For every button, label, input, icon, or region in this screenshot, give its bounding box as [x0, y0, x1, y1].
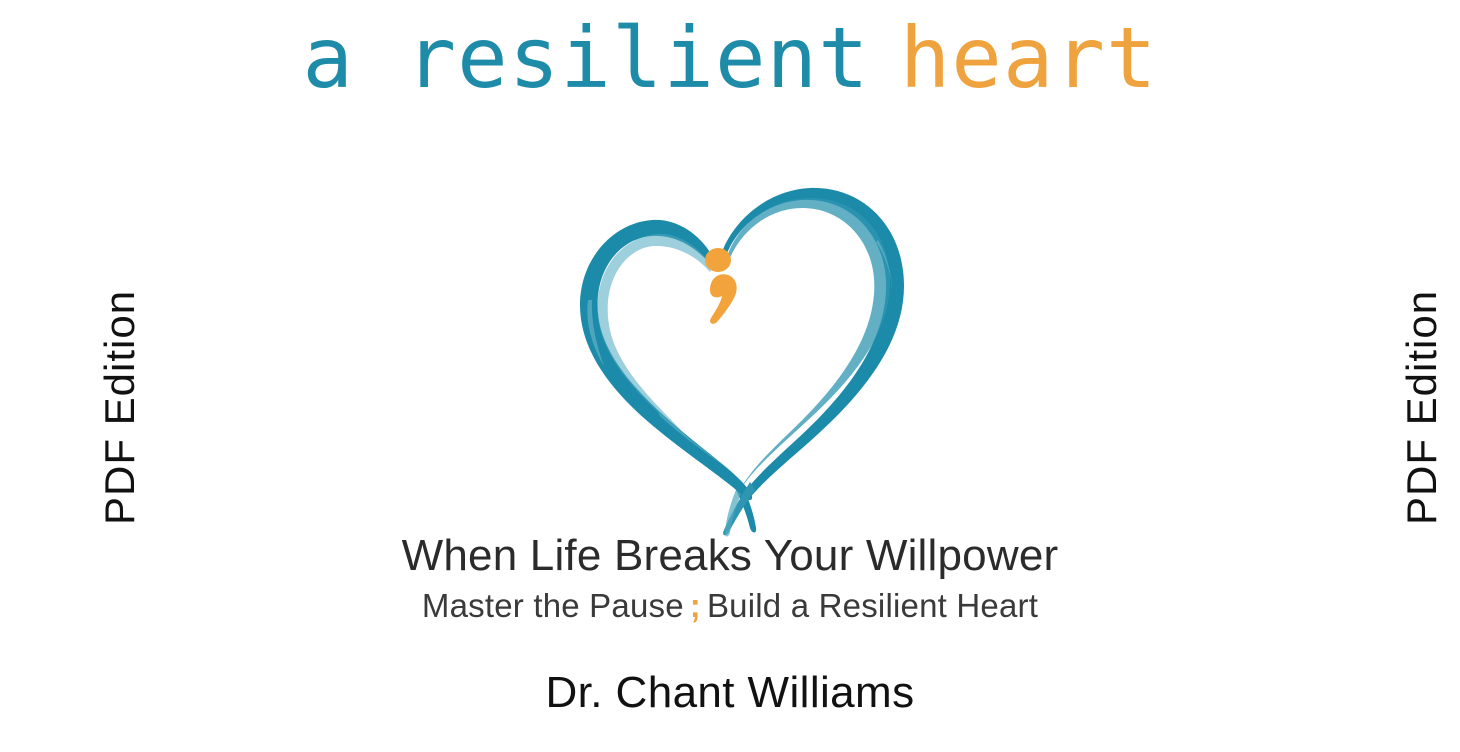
masthead-title-primary: a resilient — [302, 9, 869, 107]
edition-flag-right: PDF Edition — [1398, 290, 1446, 525]
heart-brushstroke-icon — [580, 188, 904, 537]
tagline-left-phrase: Master the Pause — [422, 587, 684, 624]
cover-masthead: a resilientheart — [0, 14, 1460, 102]
tagline-right-phrase: Build a Resilient Heart — [707, 587, 1038, 624]
cover-tagline: Master the Pause;Build a Resilient Heart — [0, 588, 1460, 624]
cover-tagline-block: When Life Breaks Your Willpower Master t… — [0, 532, 1460, 624]
semicolon-accent-icon — [705, 248, 737, 324]
cover-author-name: Dr. Chant Williams — [0, 668, 1460, 718]
heart-emblem — [540, 168, 920, 513]
cover-subtitle: When Life Breaks Your Willpower — [0, 532, 1460, 580]
edition-flag-left: PDF Edition — [96, 290, 144, 525]
book-cover: a resilientheart — [0, 0, 1460, 752]
masthead-title-accent: heart — [900, 9, 1158, 107]
tagline-semicolon-separator: ; — [684, 587, 707, 624]
